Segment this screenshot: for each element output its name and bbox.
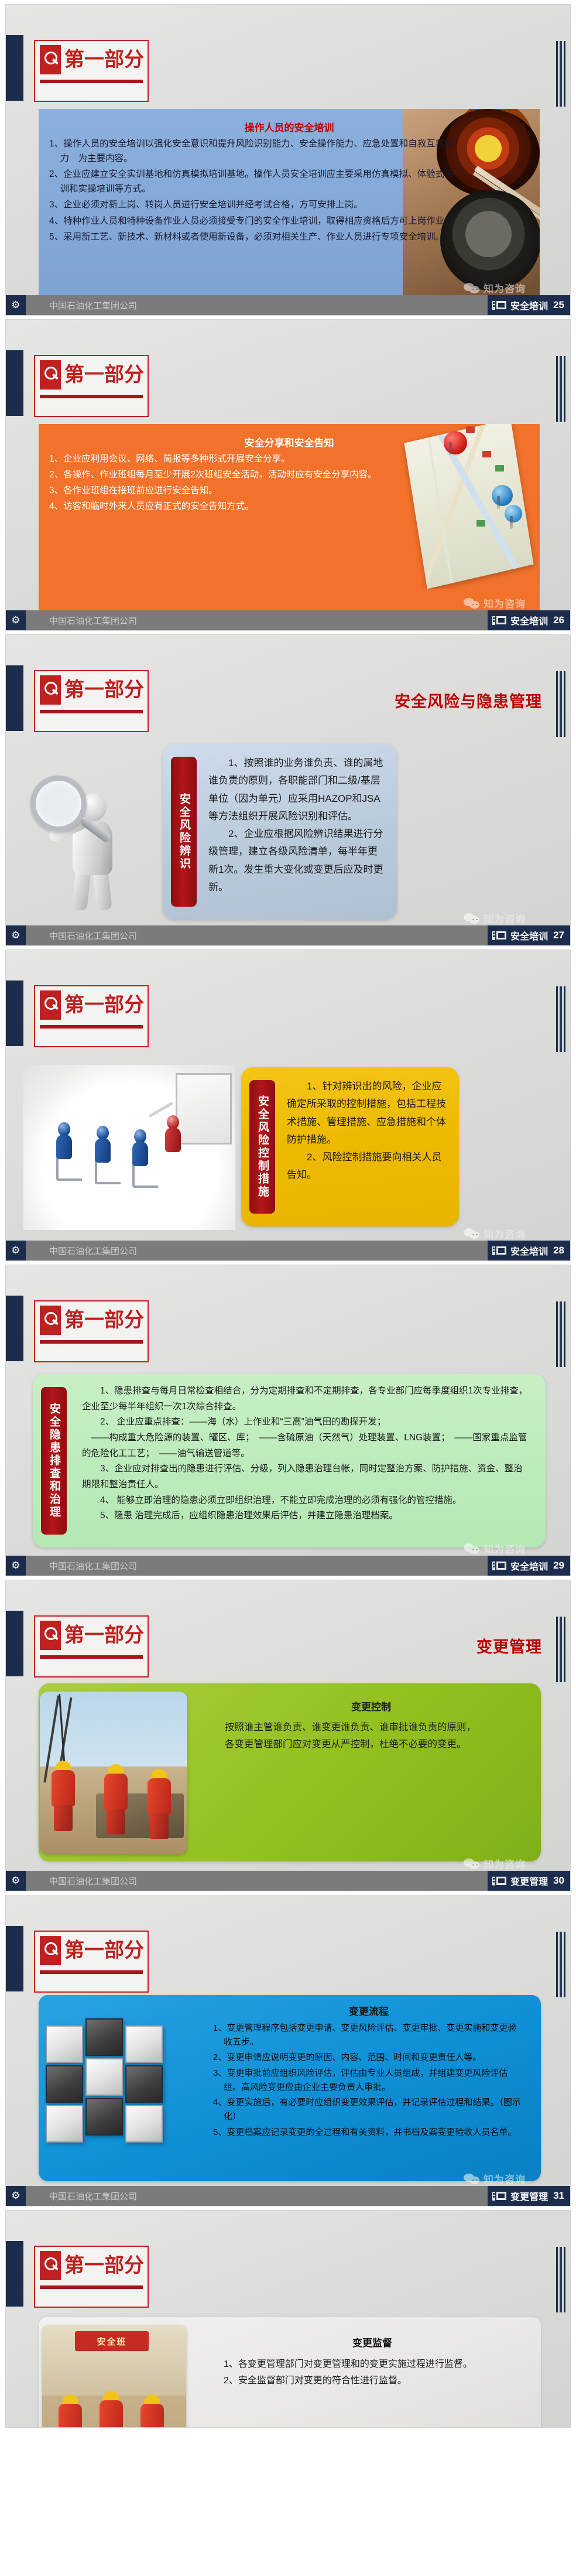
- list-item: 2、安全监督部门对变更的符合性进行监督。: [224, 2373, 521, 2389]
- slide-footer: ⚙ 中国石油化工集团公司 安全培训 26: [6, 610, 570, 630]
- risk-identification-card: 安全风险辨识 1、按照谁的业务谁负责、谁的属地谁负责的原则，各职能部门和二级/基…: [163, 744, 397, 920]
- footer-company: 中国石油化工集团公司: [49, 930, 137, 942]
- magnifier-icon: [40, 2251, 61, 2280]
- card-vertical-label: 安全风险控制措施: [256, 1095, 268, 1198]
- card-text: 1、按照谁的业务谁负责、谁的属地谁负责的原则，各职能部门和二级/基层单位（因为单…: [208, 754, 384, 896]
- chat-bubbles-icon: [464, 1543, 481, 1555]
- right-accent-bars: [556, 41, 565, 107]
- card-vertical-tab: 安全风险辨识: [171, 757, 197, 907]
- footer-chapter: 变更管理: [510, 2189, 548, 2203]
- watermark-label: 知为咨询: [484, 1226, 526, 1241]
- slide-footer: ⚙ 中国石油化工集团公司 安全培训 29: [6, 1556, 570, 1576]
- magnifier-icon: [40, 360, 61, 390]
- footer-page-number: 25: [553, 299, 564, 311]
- list-item: 4、变更实施后，有必要时应组织变更效果评估，并记录评估过程和结果。（图示化）: [213, 2096, 524, 2123]
- list-item: 1、企业应利用会议、网络、简报等多种形式开展安全分享。: [49, 452, 459, 466]
- badge-underline: [40, 395, 143, 398]
- panel-heading: 变更监督: [224, 2335, 521, 2349]
- list-item: 5、变更档案应记录变更的全过程和有关资料，并书档及案变更验收人员名单。: [213, 2126, 524, 2140]
- monitor-icon: [492, 616, 506, 626]
- oil-rig-workers-photo: [40, 1692, 187, 1854]
- footer-page-number: 28: [553, 1245, 564, 1256]
- list-item: 2、企业应建立安全实训基地和仿真模拟培训基地。操作人员安全培训应主要采用仿真模拟…: [49, 167, 459, 196]
- list-item: 2、各操作、作业班组每月至少开展2次班组安全活动，活动时应有安全分享内容。: [49, 467, 459, 482]
- list-item: 5、采用新工艺、新技术、新材料或者使用新设备，必须对相关生产、作业人员进行专项安…: [49, 230, 459, 244]
- slide-31: 第一部分 变更流程 1、变更管理程序包括变更申请、变更风险评估、变更审批、变更实…: [6, 1895, 570, 2206]
- paragraph: 按照谁主管谁负责、谁变更谁负责、谁审批谁负责的原则，: [225, 1719, 517, 1736]
- section-badge-label: 第一部分: [64, 680, 144, 700]
- badge-underline: [40, 1655, 143, 1659]
- footer-company: 中国石油化工集团公司: [49, 2190, 137, 2202]
- badge-underline: [40, 1025, 143, 1029]
- footer-company: 中国石油化工集团公司: [49, 1560, 137, 1572]
- gear-icon: ⚙: [6, 925, 26, 945]
- card-vertical-tab: 安全风险控制措施: [249, 1080, 275, 1214]
- magnifier-icon: [40, 1306, 61, 1335]
- watermark: 知为咨询: [464, 596, 526, 610]
- section-badge-label: 第一部分: [64, 50, 144, 70]
- right-accent-bars: [556, 1301, 565, 1367]
- panel-list: 1、企业应利用会议、网络、简报等多种形式开展安全分享。 2、各操作、作业班组每月…: [49, 452, 459, 514]
- gear-icon: ⚙: [6, 2186, 26, 2206]
- footer-chapter-block: 安全培训 26: [488, 610, 570, 630]
- list-item: 3、企业必须对新上岗、转岗人员进行安全培训并经考试合格，方可安排上岗。: [49, 197, 459, 212]
- risk-control-measures-card: 安全风险控制措施 1、针对辨识出的风险，企业应确定所采取的控制措施，包括工程技术…: [241, 1067, 459, 1226]
- footer-chapter-block: 安全培训 25: [488, 295, 570, 315]
- watermark-label: 知为咨询: [484, 1856, 526, 1871]
- panel-list: 1、变更管理程序包括变更申请、变更风险评估、变更审批、变更实施和变更验收五步。 …: [213, 2021, 524, 2140]
- right-accent-bars: [556, 1617, 565, 1682]
- footer-chapter-block: 变更管理 31: [488, 2186, 570, 2206]
- white-dark-cubes-photo: [42, 2013, 178, 2155]
- chat-bubbles-icon: [464, 1228, 481, 1239]
- left-accent-tab: [6, 35, 23, 101]
- slide-28: 第一部分 安全风险控制措施 1、针对辨识出的风险，企业应确定所采取的控制措施，包…: [6, 950, 570, 1260]
- slide-footer: ⚙ 中国石油化工集团公司 变更管理 30: [6, 1871, 570, 1891]
- badge-underline: [40, 80, 143, 83]
- watermark-label: 知为咨询: [484, 911, 526, 925]
- slide-25: 第一部分 操作人员的安全培训 1、操作人员的安全培训以强化安全意识和提升风险识别…: [6, 5, 570, 315]
- list-item: 2、变更申请应说明变更的原因、内容、范围、时间和变更责任人等。: [213, 2051, 524, 2065]
- watermark: 知为咨询: [464, 1541, 526, 1556]
- footer-chapter: 安全培训: [510, 1243, 548, 1258]
- section-badge: 第一部分: [34, 985, 149, 1047]
- paragraph: 1、针对辨识出的风险，企业应确定所采取的控制措施，包括工程技术措施、管理措施、应…: [287, 1078, 446, 1149]
- footer-chapter: 安全培训: [510, 928, 548, 942]
- footer-page-number: 26: [553, 614, 564, 626]
- list-item: 3、变更审批前应组织风险评估，评估由专业人员组成，并组建变更风险评估组。高风险变…: [213, 2066, 524, 2094]
- footer-page-number: 29: [553, 1560, 564, 1571]
- slide-30: 第一部分 变更管理 变更控制 按照谁主管谁负责、谁变更谁负责、谁审批谁负责的原则…: [6, 1580, 570, 1891]
- audience-figure: [92, 1126, 112, 1171]
- magnifier-icon: [40, 675, 61, 705]
- footer-chapter-block: 变更管理 30: [488, 1871, 570, 1891]
- footer-company: 中国石油化工集团公司: [49, 614, 137, 627]
- footer-company: 中国石油化工集团公司: [49, 299, 137, 312]
- right-accent-bars: [556, 1932, 565, 1997]
- monitor-icon: [492, 931, 506, 941]
- right-accent-bars: [556, 2247, 565, 2312]
- paragraph: 1、按照谁的业务谁负责、谁的属地谁负责的原则，各职能部门和二级/基层单位（因为单…: [208, 754, 384, 825]
- card-text: 1、隐患排查与每月日常检查相结合，分为定期排查和不定期排查，各专业部门应每季度组…: [82, 1383, 530, 1524]
- list-item: 1、操作人员的安全培训以强化安全意识和提升风险识别能力、安全操作能力、应急处置和…: [49, 136, 459, 166]
- right-accent-bars: [556, 671, 565, 737]
- whiteboard: [176, 1073, 232, 1144]
- slide-footer: ⚙ 中国石油化工集团公司 安全培训 27: [6, 925, 570, 945]
- panel-list: 1、操作人员的安全培训以强化安全意识和提升风险识别能力、安全操作能力、应急处置和…: [49, 136, 459, 244]
- section-badge: 第一部分: [34, 1300, 149, 1362]
- left-accent-tab: [6, 1926, 23, 1991]
- section-badge-label: 第一部分: [64, 1940, 144, 1960]
- paragraph: 4、 能够立即治理的隐患必须立即组织治理，不能立即完成治理的必须有强化的管控措施…: [82, 1493, 530, 1509]
- paragraph: 2、企业应根据风险辨识结果进行分级管理，建立各级风险清单，每半年更新1次。发生重…: [208, 825, 384, 896]
- slide-footer: ⚙ 中国石油化工集团公司 安全培训 28: [6, 1241, 570, 1260]
- footer-chapter-block: 安全培训 28: [488, 1241, 570, 1260]
- card-vertical-label: 安全隐患排查和治理: [48, 1403, 60, 1519]
- panel-heading: 变更流程: [213, 2003, 524, 2018]
- left-accent-tab: [6, 980, 23, 1046]
- badge-underline: [40, 1340, 143, 1344]
- left-accent-tab: [6, 2241, 23, 2307]
- list-item: 4、特种作业人员和特种设备作业人员必须接受专门的安全作业培训，取得相应资格后方可…: [49, 214, 459, 228]
- monitor-icon: [492, 1561, 506, 1571]
- content-panel: 操作人员的安全培训 1、操作人员的安全培训以强化安全意识和提升风险识别能力、安全…: [39, 109, 540, 296]
- gear-icon: ⚙: [6, 610, 26, 630]
- magnifier-icon: [40, 45, 61, 74]
- card-vertical-label: 安全风险辨识: [178, 793, 190, 870]
- list-item: 1、各变更管理部门对变更管理和的变更实施过程进行监督。: [224, 2356, 521, 2373]
- card-text: 1、针对辨识出的风险，企业应确定所采取的控制措施，包括工程技术措施、管理措施、应…: [287, 1078, 446, 1184]
- paragraph: ——构成重大危险源的装置、罐区、库； ——含硫原油（天然气）处理装置、LNG装置…: [82, 1430, 530, 1461]
- slide-27: 第一部分 安全风险与隐患管理 安全风险辨识 1、按照谁的业务谁负责、谁的属地谁负…: [6, 635, 570, 945]
- watermark-label: 知为咨询: [484, 2171, 526, 2186]
- gear-icon: ⚙: [6, 1871, 26, 1891]
- page-title: 变更管理: [476, 1634, 542, 1657]
- card-vertical-tab: 安全隐患排查和治理: [41, 1387, 67, 1535]
- monitor-icon: [492, 300, 506, 310]
- watermark-label: 知为咨询: [484, 281, 526, 295]
- chat-bubbles-icon: [464, 2173, 481, 2185]
- section-badge-label: 第一部分: [64, 2256, 144, 2276]
- watermark-label: 知为咨询: [484, 596, 526, 610]
- footer-page-number: 31: [553, 2190, 564, 2202]
- footer-company: 中国石油化工集团公司: [49, 1245, 137, 1257]
- monitor-icon: [492, 2191, 506, 2201]
- section-badge-label: 第一部分: [64, 365, 144, 385]
- magnifier-icon: [40, 1621, 61, 1650]
- footer-chapter: 安全培训: [510, 298, 548, 312]
- section-badge: 第一部分: [34, 670, 149, 732]
- panel-heading: 安全分享和安全告知: [49, 435, 529, 449]
- footer-chapter: 安全培训: [510, 1559, 548, 1573]
- slide-29: 第一部分 安全隐患排查和治理 1、隐患排查与每月日常检查相结合，分为定期排查和不…: [6, 1265, 570, 1576]
- section-badge-label: 第一部分: [64, 1625, 144, 1645]
- paragraph: 3、企业应对排查出的隐患进行评估、分级，列入隐患治理台帐，同时定整治方案、防护措…: [82, 1461, 530, 1492]
- magnifier-icon: [40, 990, 61, 1020]
- slide-footer: ⚙ 中国石油化工集团公司 安全培训 25: [6, 295, 570, 315]
- list-item: 1、变更管理程序包括变更申请、变更风险评估、变更审批、变更实施和变更验收五步。: [213, 2021, 524, 2049]
- chat-bubbles-icon: [464, 282, 481, 294]
- gear-icon: ⚙: [6, 295, 26, 315]
- section-badge-label: 第一部分: [64, 995, 144, 1015]
- page-title: 安全风险与隐患管理: [395, 689, 542, 712]
- footer-page-number: 27: [553, 930, 564, 941]
- paragraph: 各变更管理部门应对变更从严控制，杜绝不必要的变更。: [225, 1736, 517, 1753]
- audience-figure: [54, 1122, 74, 1168]
- footer-chapter: 安全培训: [510, 613, 548, 627]
- monitor-icon: [492, 1246, 506, 1256]
- panel-heading: 操作人员的安全培训: [49, 119, 529, 134]
- slide-deck: 第一部分 操作人员的安全培训 1、操作人员的安全培训以强化安全意识和提升风险识别…: [0, 0, 576, 2427]
- watermark: 知为咨询: [464, 1226, 526, 1241]
- presenter-figure: [163, 1115, 183, 1161]
- panel-heading: 变更控制: [225, 1699, 517, 1713]
- panel-list: 1、各变更管理部门对变更管理和的变更实施过程进行监督。 2、安全监督部门对变更的…: [224, 2356, 521, 2389]
- gear-icon: ⚙: [6, 1241, 26, 1260]
- section-badge: 第一部分: [34, 2246, 149, 2308]
- paragraph: 5、隐患 治理完成后，应组织隐患治理效果后评估，并建立隐患治理档案。: [82, 1508, 530, 1524]
- content-panel: 安全分享和安全告知 1、企业应利用会议、网络、简报等多种形式开展安全分享。 2、…: [39, 424, 540, 611]
- footer-company: 中国石油化工集团公司: [49, 1875, 137, 1887]
- footer-chapter-block: 安全培训 27: [488, 925, 570, 945]
- watermark: 知为咨询: [464, 281, 526, 295]
- chat-bubbles-icon: [464, 597, 481, 609]
- slide-footer: ⚙ 中国石油化工集团公司 变更管理 31: [6, 2186, 570, 2206]
- badge-underline: [40, 2285, 143, 2289]
- watermark: 知为咨询: [464, 1856, 526, 1871]
- gear-icon: ⚙: [6, 1556, 26, 1576]
- footer-chapter: 变更管理: [510, 1874, 548, 1888]
- section-badge-label: 第一部分: [64, 1310, 144, 1330]
- chat-bubbles-icon: [464, 1858, 481, 1870]
- paragraph: 2、风险控制措施要向相关人员告知。: [287, 1149, 446, 1184]
- list-item: 4、访客和临时外来人员应有正式的安全告知方式。: [49, 499, 459, 514]
- man-with-magnifier-illustration: [22, 750, 174, 914]
- section-badge: 第一部分: [34, 355, 149, 417]
- monitor-icon: [492, 1876, 506, 1886]
- classroom-training-illustration: [23, 1065, 235, 1230]
- badge-underline: [40, 710, 143, 713]
- slide-26: 第一部分 安全分享和安全告知 1、企业应利用会议、网络、简报等多种形式开展安全分…: [6, 320, 570, 630]
- section-badge: 第一部分: [34, 1931, 149, 1993]
- team-photo-under-banner: 安全班: [42, 2325, 186, 2427]
- watermark-label: 知为咨询: [484, 1541, 526, 1556]
- list-item: 3、各作业班组在接班前应进行安全告知。: [49, 483, 459, 498]
- banner-text: 安全班: [75, 2331, 149, 2351]
- watermark: 知为咨询: [464, 2171, 526, 2186]
- left-accent-tab: [6, 1296, 23, 1361]
- left-accent-tab: [6, 665, 23, 731]
- footer-page-number: 30: [553, 1875, 564, 1887]
- badge-underline: [40, 1970, 143, 1974]
- paragraph: 2、 企业应重点排查：——海（水）上作业和“三高”油气田的勘探开发；: [82, 1415, 530, 1430]
- paragraph: 1、隐患排查与每月日常检查相结合，分为定期排查和不定期排查，各专业部门应每季度组…: [82, 1383, 530, 1415]
- audience-figure: [130, 1129, 150, 1175]
- left-accent-tab: [6, 350, 23, 416]
- right-accent-bars: [556, 356, 565, 422]
- section-badge: 第一部分: [34, 1615, 149, 1678]
- right-accent-bars: [556, 986, 565, 1052]
- watermark: 知为咨询: [464, 911, 526, 925]
- left-accent-tab: [6, 1611, 23, 1676]
- slide-32: 第一部分 变更监督 1、各变更管理部门对变更管理和的变更实施过程进行监督。 2、…: [6, 2211, 570, 2427]
- hazard-investigation-card: 安全隐患排查和治理 1、隐患排查与每月日常检查相结合，分为定期排查和不定期排查，…: [33, 1374, 546, 1547]
- section-badge: 第一部分: [34, 40, 149, 102]
- chat-bubbles-icon: [464, 913, 481, 924]
- footer-chapter-block: 安全培训 29: [488, 1556, 570, 1576]
- magnifier-icon: [40, 1936, 61, 1965]
